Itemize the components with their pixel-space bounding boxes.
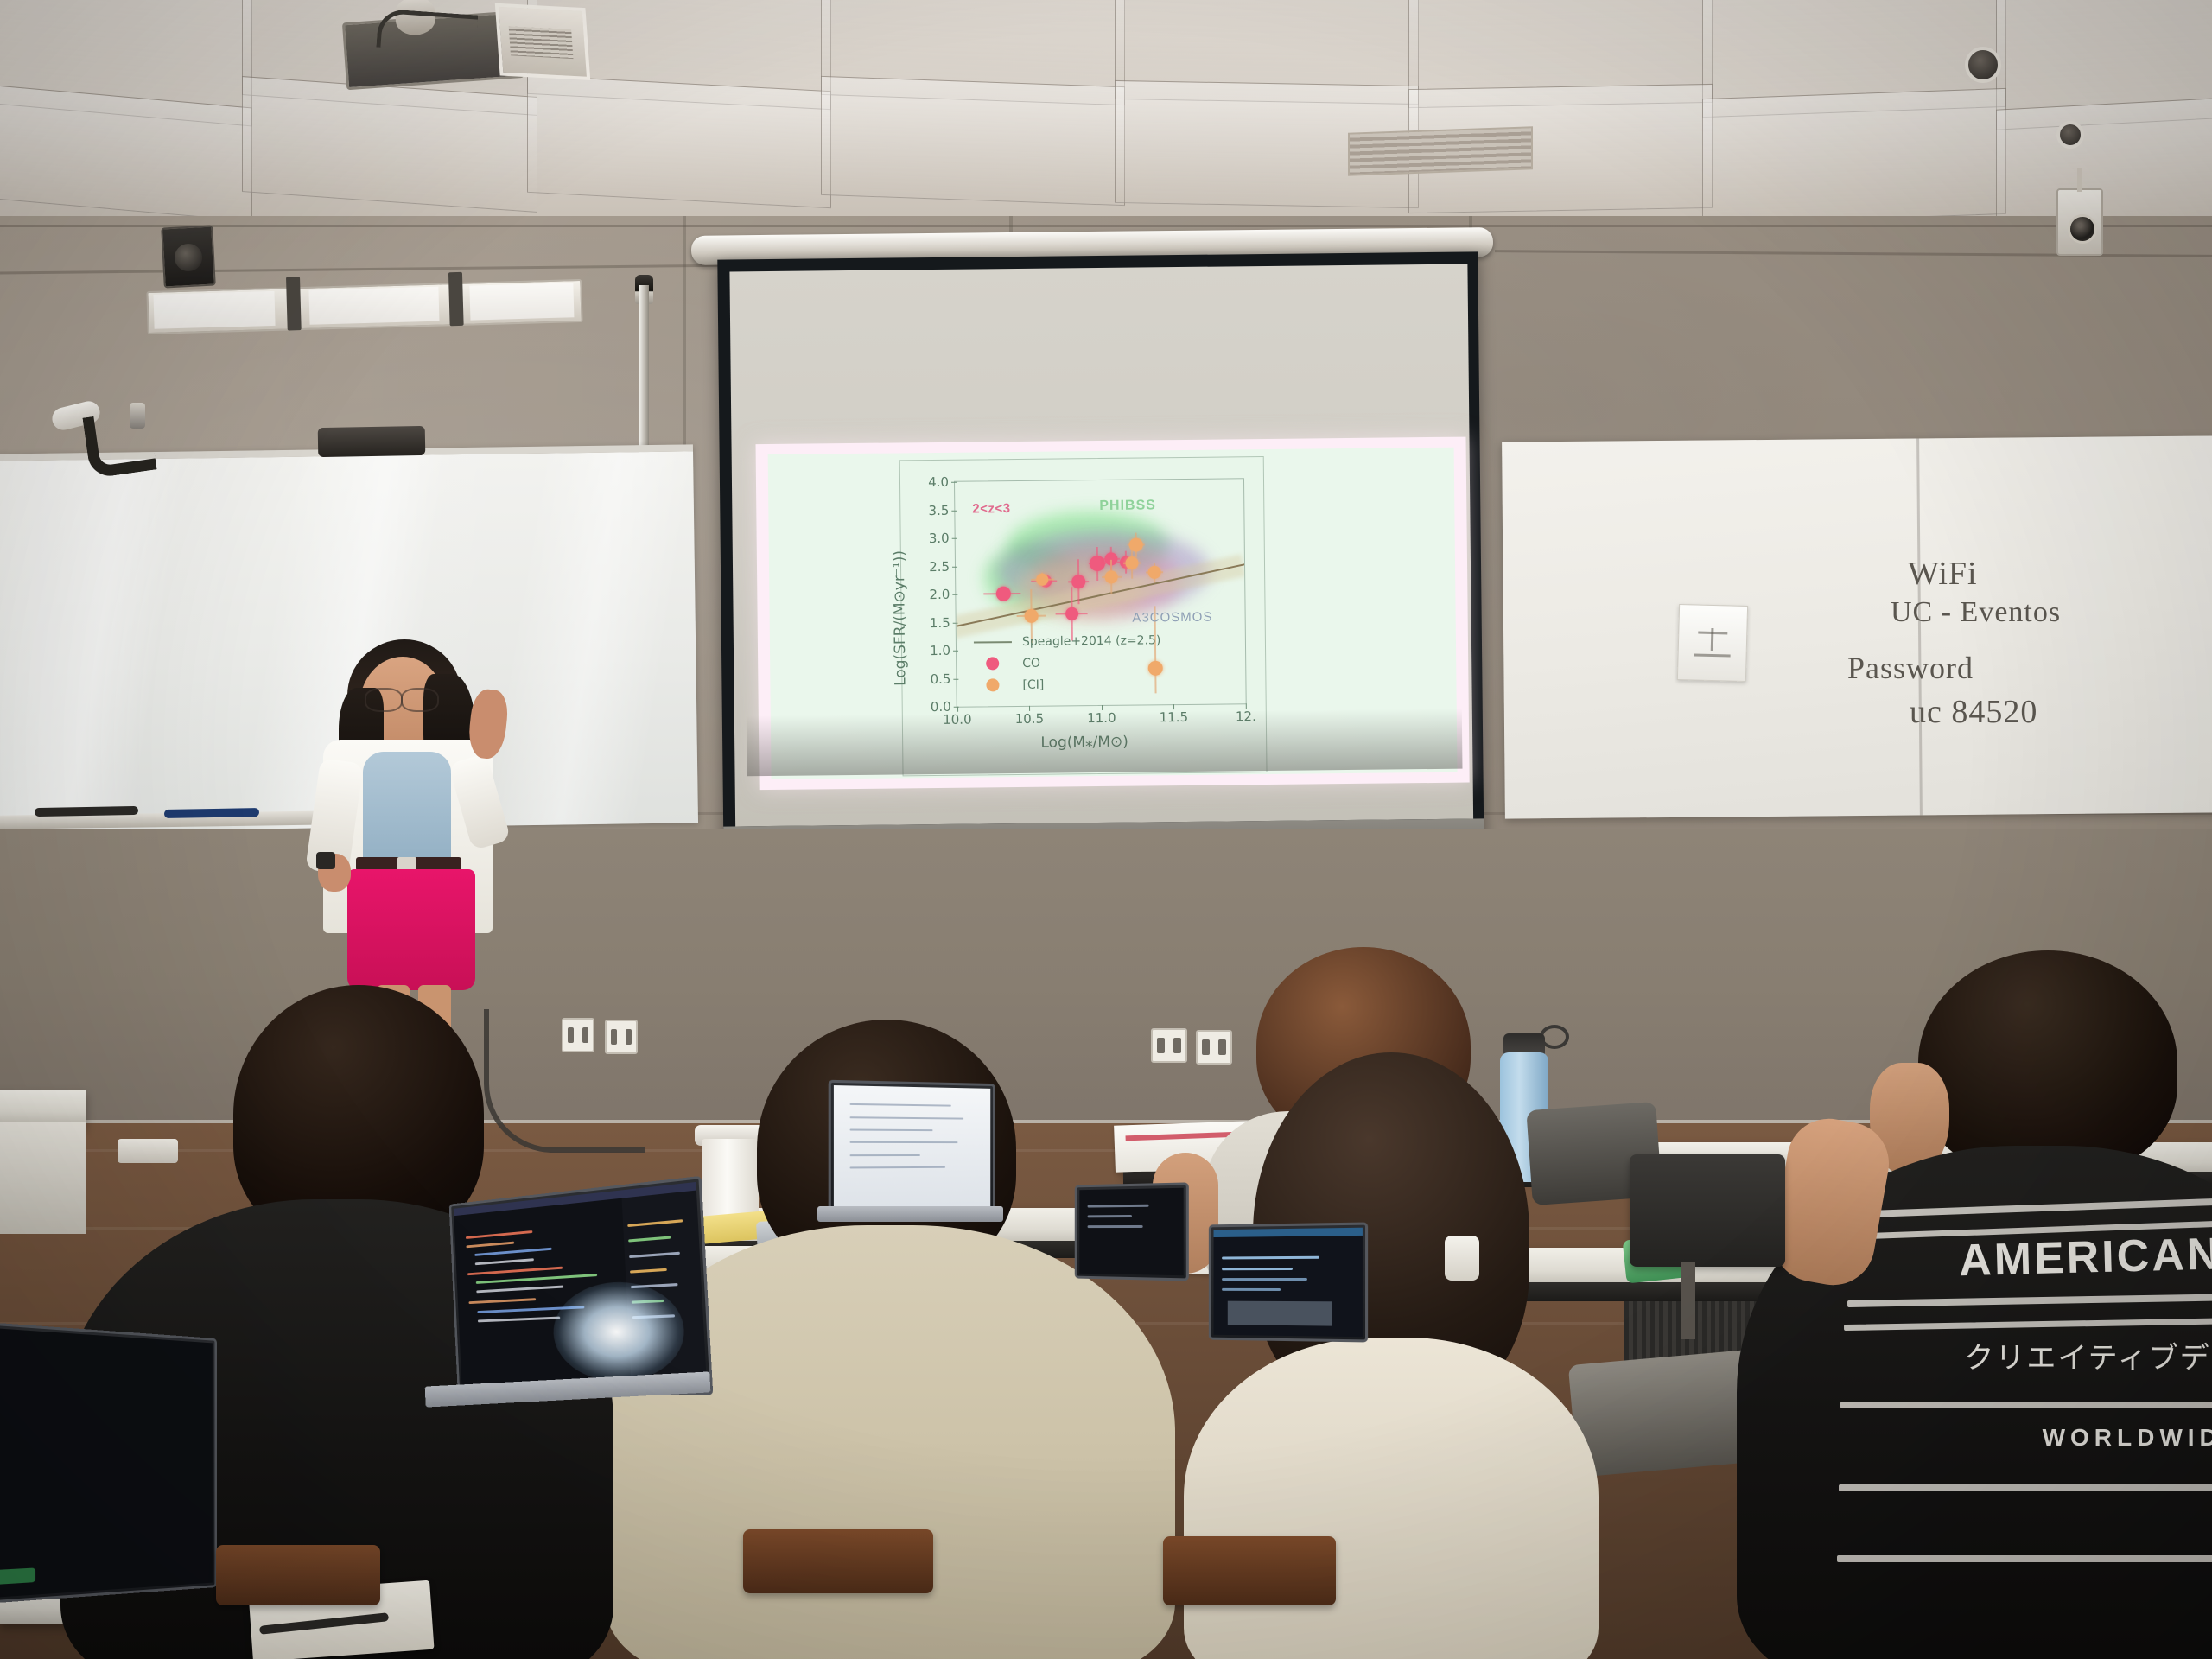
data-point-ci [1024, 609, 1038, 623]
screen-shadow [747, 709, 1463, 777]
ceiling-projector [341, 0, 554, 93]
presenter-skirt [347, 869, 475, 990]
data-point-co [996, 587, 1011, 601]
student-hair [1918, 950, 2177, 1175]
hair-clip [1445, 1236, 1479, 1281]
classroom-scene: WiFi UC - Eventos Password uc 84520 Log(… [0, 0, 2212, 1659]
student-top [1184, 1338, 1599, 1659]
screen-badge [0, 1567, 35, 1584]
legend-dot-swatch [986, 657, 999, 670]
chart-y-axis-label: Log(SFR/(M⊙yr⁻¹)) [891, 550, 910, 686]
screen-surface: Log(SFR/(M⊙yr⁻¹)) Log(M⁎/M⊙) 0.0 0.5 1.0… [729, 264, 1473, 827]
laptop-document[interactable] [829, 1080, 995, 1219]
chair[interactable] [1163, 1536, 1336, 1605]
annotation-redshift: 2<z<3 [972, 501, 1010, 516]
whiteboard-marker[interactable] [164, 808, 259, 818]
laptop-screen [454, 1182, 708, 1389]
whiteboard-eraser [318, 426, 426, 457]
wifi-ssid: UC - Eventos [1891, 596, 2061, 629]
laptop-center[interactable] [1209, 1223, 1368, 1343]
chair[interactable] [1630, 1154, 1785, 1267]
wall-camera [2056, 188, 2103, 256]
whiteboard-marker[interactable] [35, 806, 138, 817]
data-point-ci [1105, 570, 1118, 583]
laptop-small[interactable] [1075, 1182, 1189, 1281]
desk-side [0, 1122, 86, 1234]
glasses [401, 688, 439, 712]
y-tick: 3.0 [929, 531, 950, 546]
floor-adapter [118, 1139, 178, 1163]
legend-item-speagle: Speagle+2014 (z=2.5) [974, 629, 1161, 652]
chair[interactable] [743, 1529, 933, 1593]
laptop-foreground[interactable] [0, 1322, 217, 1605]
ceiling-speaker [1965, 47, 2001, 83]
ceiling-sensor [2056, 121, 2084, 149]
legend-label: Speagle+2014 (z=2.5) [1022, 633, 1161, 649]
shirt-text-japanese: クリエイティブデザイン [1918, 1334, 2212, 1376]
data-point-co [1065, 607, 1078, 620]
chair[interactable] [216, 1545, 380, 1605]
presenter-hand-right [467, 688, 510, 760]
glasses [365, 688, 403, 712]
presenter [304, 639, 512, 1002]
laptop-screen [0, 1328, 213, 1599]
annotation-phibss: PHIBSS [1099, 498, 1156, 514]
y-tick: 1.0 [930, 643, 950, 658]
y-tick: 2.0 [929, 587, 950, 602]
data-point-ci [1125, 556, 1138, 569]
chart-legend: Speagle+2014 (z=2.5) CO [CI] [974, 629, 1161, 696]
wall-speaker-left [161, 225, 216, 288]
y-tick: 0.5 [930, 671, 950, 686]
projection-screen: Log(SFR/(M⊙yr⁻¹)) Log(M⁎/M⊙) 0.0 0.5 1.0… [717, 251, 1484, 876]
chair-leg [1681, 1262, 1695, 1339]
board-knob [130, 403, 145, 429]
data-point-ci [1036, 573, 1048, 585]
legend-dot-swatch [986, 678, 999, 691]
presenter-clicker[interactable] [316, 852, 335, 869]
ceiling [0, 0, 2212, 225]
wifi-password-value: uc 84520 [1910, 693, 2037, 731]
data-point-ci [1148, 566, 1161, 579]
legend-label: [CI] [1022, 677, 1044, 691]
annotation-a3cosmos: A3COSMOS [1132, 609, 1212, 625]
student-right: AMERICANINO クリエイティブデザイン WORLDWIDE [1806, 950, 2212, 1659]
wifi-password-label: Password [1847, 650, 1974, 686]
legend-item-co: CO [974, 651, 1161, 674]
wifi-label: WiFi [1908, 555, 1978, 593]
data-point-ci [1128, 538, 1142, 552]
laptop-screen [1214, 1228, 1363, 1338]
laptop-screen [834, 1085, 990, 1213]
legend-item-ci: [CI] [974, 672, 1161, 696]
whiteboard-right [1502, 435, 2212, 818]
legend-line-swatch [974, 641, 1012, 643]
laptop-base [817, 1206, 1003, 1222]
presenter-top [363, 752, 451, 864]
data-point-co [1071, 575, 1085, 588]
y-tick: 2.5 [929, 558, 950, 574]
chart-plot-area: 0.0 0.5 1.0 1.5 2.0 2.5 3.0 3.5 4.0 10.0… [954, 478, 1247, 708]
ceiling-vent [1348, 126, 1533, 175]
y-tick: 1.5 [930, 614, 950, 630]
paper-note [1677, 604, 1748, 682]
legend-label: CO [1022, 656, 1040, 670]
laptop-screen [1079, 1188, 1183, 1276]
y-tick: 3.5 [928, 502, 949, 518]
y-tick: 4.0 [928, 474, 949, 490]
laptop-code-editor[interactable] [449, 1176, 714, 1395]
shirt-text-worldwide: WORLDWIDE [1961, 1424, 2212, 1452]
